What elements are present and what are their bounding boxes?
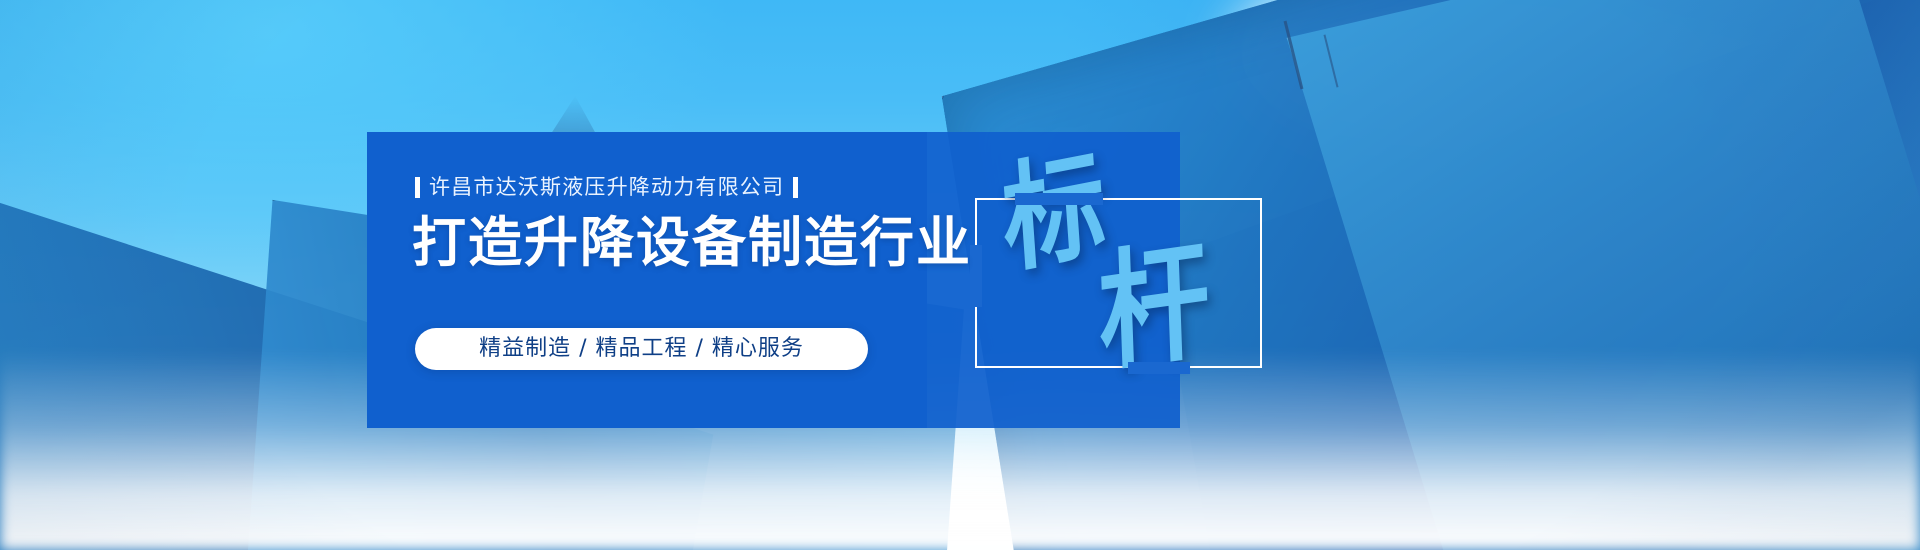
tagline-text: 精益制造 / 精品工程 / 精心服务: [479, 338, 804, 360]
banner-hero: 标 杆 许昌市达沃斯液压升降动力有限公司 打造升降设备制造行业 精益制造 / 精…: [0, 0, 1920, 550]
bar-marker-right-icon: [793, 177, 798, 198]
bar-marker-left-icon: [415, 177, 420, 198]
company-name-row: 许昌市达沃斯液压升降动力有限公司: [415, 177, 798, 198]
tagline-pill: 精益制造 / 精品工程 / 精心服务: [415, 328, 868, 370]
panel-content: 许昌市达沃斯液压升降动力有限公司 打造升降设备制造行业 精益制造 / 精品工程 …: [367, 132, 1180, 428]
company-name: 许昌市达沃斯液压升降动力有限公司: [429, 177, 784, 198]
headline: 打造升降设备制造行业: [412, 216, 972, 270]
